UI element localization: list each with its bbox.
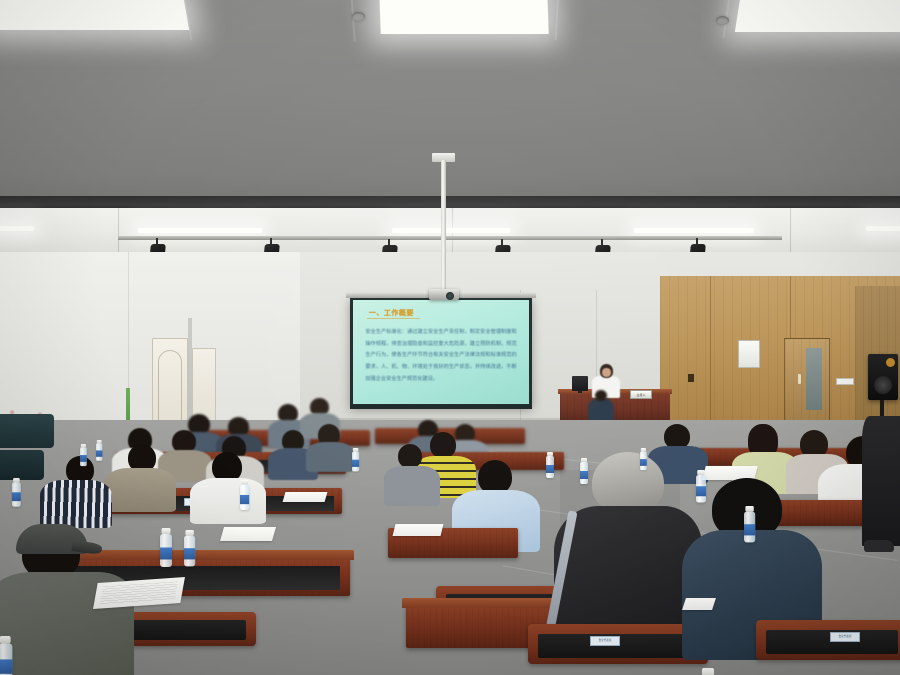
attendee-torso-mid-5 <box>306 442 354 472</box>
projection-screen-surface: 一、工作概要 安全生产标准化：通过建立安全生产责任制，制定安全管理制度和操作规程… <box>353 300 529 404</box>
seat-label-right-near-2: 会议代表席 <box>830 632 860 642</box>
wall-socket-dark <box>688 374 694 382</box>
document-right-near <box>682 598 716 610</box>
desk-top-center-nearest <box>402 598 570 608</box>
projection-screen: 一、工作概要 安全生产标准化：通过建立安全生产责任制，制定安全管理制度和操作规程… <box>350 297 532 407</box>
screen-bottom-weight-bar <box>350 405 532 409</box>
attendee-head-grey-mid <box>398 444 422 468</box>
rostrum-monitor-stand <box>578 390 582 393</box>
ceiling-panel-light-3 <box>735 0 900 32</box>
seat-label-right-near: 会议代表席 <box>590 636 620 646</box>
presenter-face <box>602 368 611 377</box>
attendee-head-yellow <box>430 432 456 458</box>
front-row-attendee-a-head <box>595 390 607 401</box>
attendee-torso-grey-mid <box>384 466 440 506</box>
speaker-tweeter <box>886 358 895 367</box>
soffit-joint-right <box>790 208 791 254</box>
left-wall-face <box>0 252 300 430</box>
strip-light-4 <box>634 228 754 233</box>
projector-mount-pole <box>441 160 446 292</box>
wall-control-box[interactable] <box>738 340 760 368</box>
document-left-mid-2 <box>283 492 328 502</box>
strip-light-1 <box>0 226 34 231</box>
strip-light-3 <box>392 228 510 233</box>
side-chair-teal[interactable] <box>0 414 54 448</box>
strip-light-2 <box>138 228 262 233</box>
rostrum-monitor <box>572 376 588 391</box>
attendee-torso-blazer <box>104 468 176 512</box>
attendee-aisle-right-shoe <box>864 540 894 552</box>
projector-lens <box>446 292 454 300</box>
soffit-joint-left <box>118 208 119 254</box>
attendee-aisle-right <box>862 416 900 546</box>
conference-hall-photo: ✿ ✿ ✿ ✿ 一、工作概要 安全生产标准化：通过建立安全生产责任制，制定安全管… <box>0 0 900 675</box>
lighting-track-rail <box>118 236 782 240</box>
slide-title-underline <box>367 318 420 319</box>
right-door-handle[interactable] <box>798 374 801 384</box>
document-center <box>393 524 444 536</box>
right-wood-wall-seam-1 <box>710 276 711 436</box>
ceiling-panel-light-2 <box>379 0 548 34</box>
right-door-window <box>806 348 822 410</box>
side-chair-teal-2[interactable] <box>0 450 44 480</box>
ceiling-smoke-sensor-1 <box>352 12 365 21</box>
presenter-nameplate: 主持人 <box>630 390 652 399</box>
attendee-head-blue-shirt <box>478 460 512 494</box>
ceiling-panel-light-1 <box>0 0 189 30</box>
wall-outlet-panel[interactable] <box>836 378 854 385</box>
speaker-woofer-cone <box>874 376 892 394</box>
slide-body-text: 安全生产标准化：通过建立安全生产责任制，制定安全管理制度和操作规程，排查治理隐患… <box>365 327 516 386</box>
attendee-head-greyhair <box>592 452 664 514</box>
document-left-mid <box>220 527 276 541</box>
strip-light-5 <box>866 226 900 231</box>
ceiling-smoke-sensor-2 <box>716 16 729 25</box>
attendee-torso-white-polo <box>190 478 266 524</box>
left-door-panel-decor <box>158 350 182 428</box>
attendee-torso-striped <box>40 480 112 528</box>
projector <box>429 289 459 300</box>
